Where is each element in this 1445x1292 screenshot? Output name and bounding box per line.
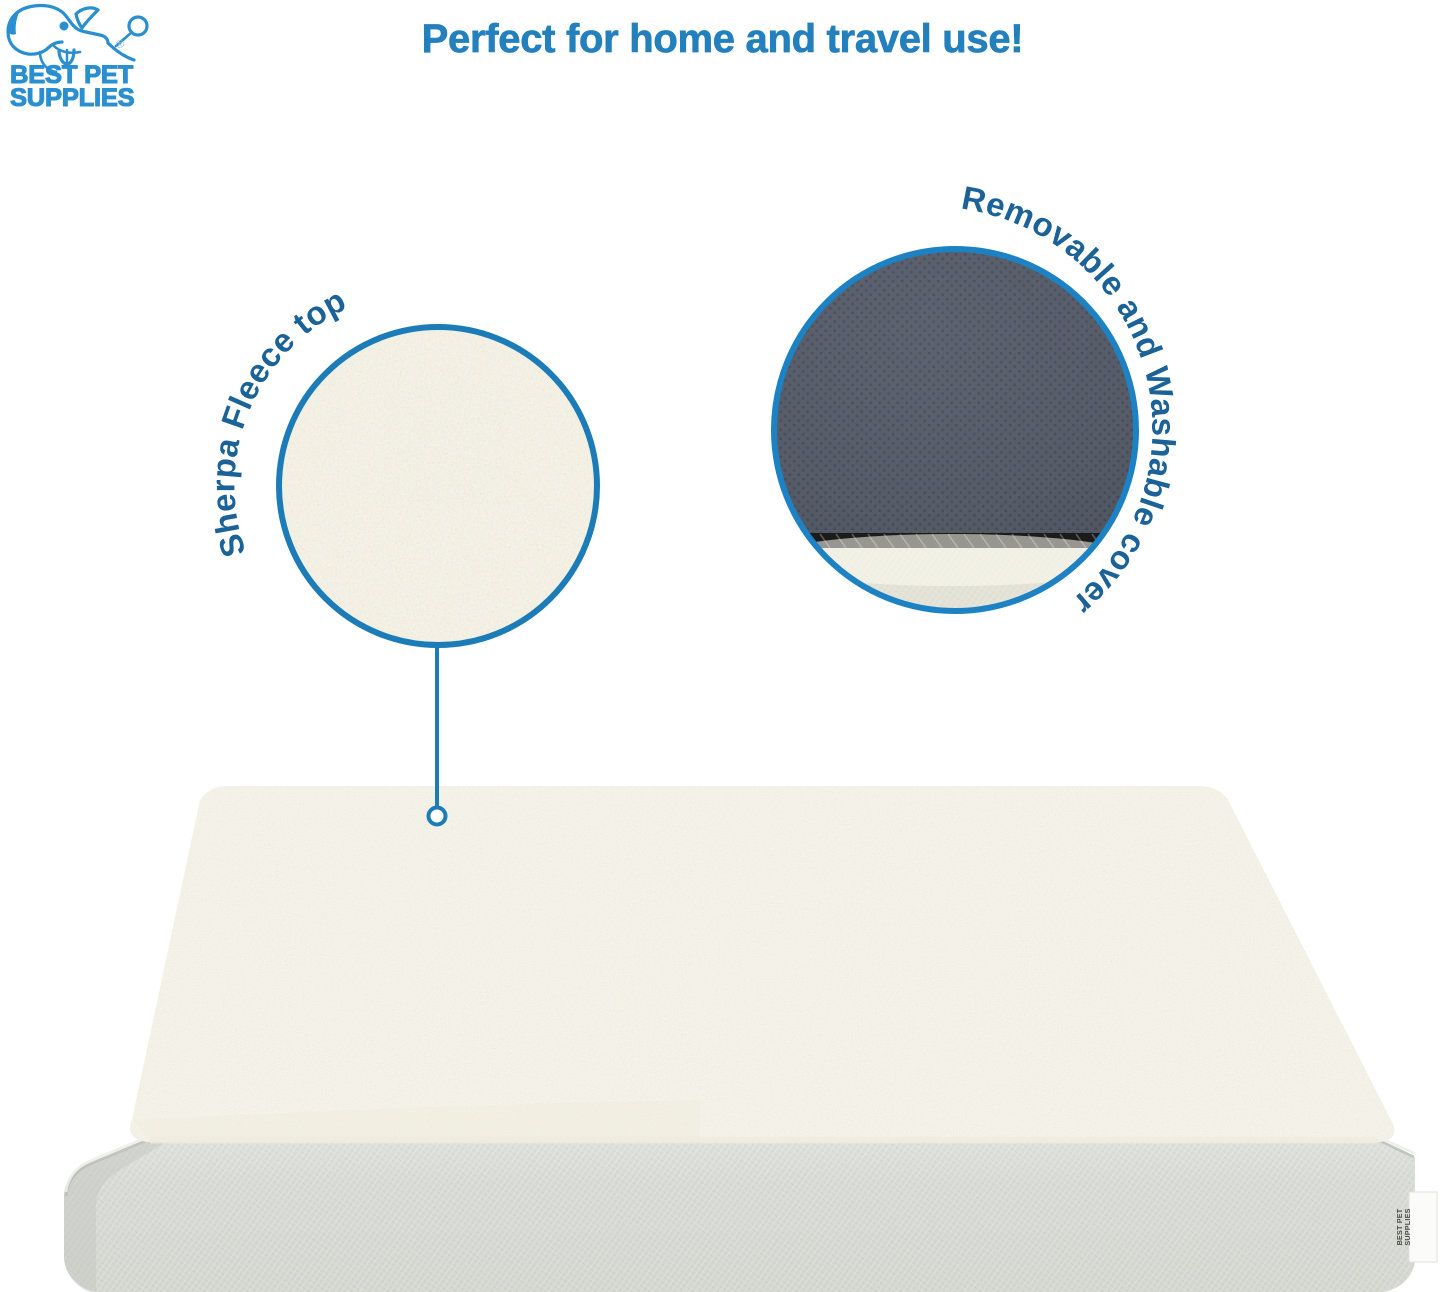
band-weave-texture bbox=[64, 1141, 1415, 1292]
fleece-texture-highlight bbox=[130, 786, 1394, 1142]
pet-bed bbox=[64, 786, 1437, 1292]
product-illustration bbox=[0, 0, 1445, 1292]
infographic-canvas: ® BEST PET SUPPLIES Perfect for home and… bbox=[0, 0, 1445, 1292]
bed-tag-text: BEST PET SUPPLIES bbox=[1396, 1204, 1445, 1250]
tag-line-2: SUPPLIES bbox=[1404, 1204, 1412, 1250]
